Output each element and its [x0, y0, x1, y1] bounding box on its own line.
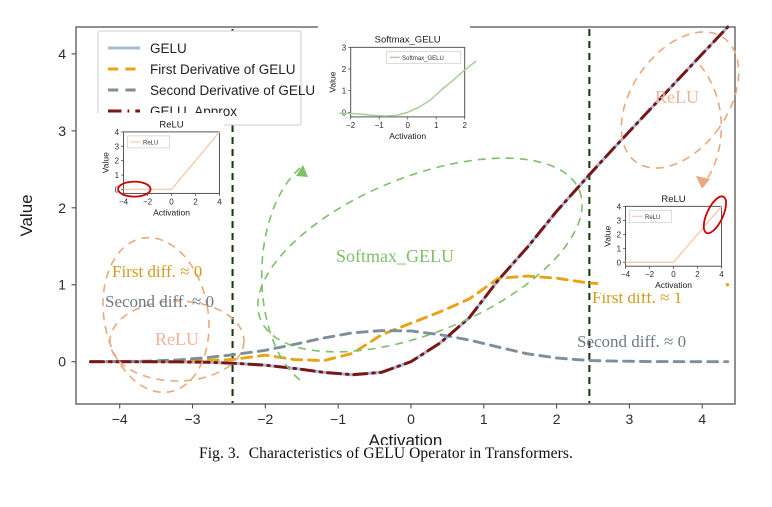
softmax-gelu-inset-y-tick-label: 1 [342, 87, 347, 96]
softmax-gelu-inset-x-tick-label: 1 [434, 121, 439, 130]
relu-right-inset-y-tick-label: 1 [617, 244, 622, 253]
second-diff-left: Second diff. ≈ 0 [105, 292, 214, 311]
softmax-gelu-inset-x-tick-label: 0 [405, 121, 410, 130]
softmax-gelu-inset-x-tick-label: −1 [375, 121, 385, 130]
relu-right-inset-y-tick-label: 4 [617, 202, 622, 211]
y-tick-label: 3 [58, 123, 66, 139]
relu-left-inset-x-tick-label: −2 [143, 197, 153, 206]
softmax-gelu-inset-y-tick-label: 3 [342, 43, 347, 52]
x-tick-label: −1 [330, 411, 346, 427]
relu-left: ReLU [155, 329, 199, 349]
relu-right-inset-xlabel: Activation [655, 280, 692, 290]
figure-container: −4−3−2−10123401234ActivationValueFirst d… [0, 0, 772, 507]
chart-legend: GELUFirst Derivative of GELUSecond Deriv… [98, 31, 315, 125]
x-tick-label: 4 [698, 411, 706, 427]
relu-left-inset-y-tick-label: 3 [115, 142, 120, 151]
relu-left-inset-x-tick-label: 4 [217, 197, 222, 206]
relu-right-inset-title: ReLU [661, 194, 685, 205]
y-tick-label: 2 [58, 200, 66, 216]
relu-right-inset-x-tick-label: −2 [645, 270, 655, 279]
relu-left-inset-x-tick-label: −4 [119, 197, 129, 206]
relu-right-inset-y-tick-label: 0 [617, 258, 622, 267]
softmax-gelu-inset-x-tick-label: 2 [462, 121, 467, 130]
relu-left-inset-y-tick-label: 2 [115, 157, 120, 166]
softmax-gelu-inset-xlabel: Activation [389, 131, 426, 141]
second-diff-right: Second diff. ≈ 0 [577, 332, 686, 351]
relu-left-inset-y-tick-label: 1 [115, 171, 120, 180]
x-tick-label: 3 [626, 411, 634, 427]
gelu-characteristics-chart: −4−3−2−10123401234ActivationValueFirst d… [0, 0, 772, 445]
relu-right-inset-y-tick-label: 3 [617, 216, 622, 225]
relu-left-inset-legend-label: ReLU [143, 140, 158, 146]
relu-right-inset-x-tick-label: 0 [671, 270, 676, 279]
softmax-gelu-center: Softmax_GELU [336, 246, 454, 266]
y-tick-label: 0 [58, 354, 66, 370]
softmax-gelu-inset-x-tick-label: −2 [346, 121, 356, 130]
figure-caption-text: Characteristics of GELU Operator in Tran… [249, 445, 573, 462]
x-tick-label: −2 [257, 411, 273, 427]
figure-number: Fig. 3. [199, 445, 240, 462]
x-tick-label: 1 [480, 411, 488, 427]
relu-right: ReLU [655, 87, 699, 107]
softmax-gelu-inset-y-tick-label: 2 [342, 65, 347, 74]
x-tick-label: −3 [185, 411, 201, 427]
softmax-gelu-inset-ylabel: Value [328, 71, 338, 92]
relu-left-inset: ReLU−4−202401234ActivationValueReLU [96, 113, 224, 221]
softmax-gelu-inset-legend-label: Softmax_GELU [402, 56, 444, 62]
x-tick-label: 2 [553, 411, 561, 427]
x-tick-label: 0 [407, 411, 415, 427]
relu-right-inset-ylabel: Value [603, 225, 613, 246]
relu-right-inset-x-tick-label: 2 [695, 270, 700, 279]
relu-right-inset-y-tick-label: 2 [617, 230, 622, 239]
y-tick-label: 1 [58, 277, 66, 293]
y-axis-label: Value [17, 194, 36, 236]
softmax-gelu-inset: Softmax_GELU−2−10120123ActivationValueSo… [318, 26, 476, 148]
softmax-gelu-inset-title: Softmax_GELU [375, 34, 441, 45]
relu-right-inset: ReLU−4−202401234ActivationValueReLU [598, 188, 731, 293]
relu-left-inset-xlabel: Activation [153, 207, 190, 217]
relu-left-inset-ylabel: Value [101, 152, 111, 173]
legend-label-1: First Derivative of GELU [150, 62, 296, 77]
relu-left-inset-x-tick-label: 2 [193, 197, 198, 206]
first-diff-left: First diff. ≈ 0 [112, 262, 202, 281]
relu-left-inset-title: ReLU [159, 120, 183, 131]
relu-right-inset-x-tick-label: −4 [621, 270, 631, 279]
relu-right-inset-legend-label: ReLU [645, 215, 660, 221]
relu-right-inset-x-tick-label: 4 [719, 270, 724, 279]
relu-left-inset-y-tick-label: 4 [115, 128, 120, 137]
figure-caption: Fig. 3.Characteristics of GELU Operator … [0, 445, 772, 463]
relu-left-inset-x-tick-label: 0 [169, 197, 174, 206]
x-tick-label: −4 [112, 411, 128, 427]
legend-label-2: Second Derivative of GELU [150, 83, 315, 98]
x-axis-label: Activation [369, 431, 443, 445]
y-tick-label: 4 [58, 46, 66, 62]
legend-label-0: GELU [150, 41, 187, 56]
